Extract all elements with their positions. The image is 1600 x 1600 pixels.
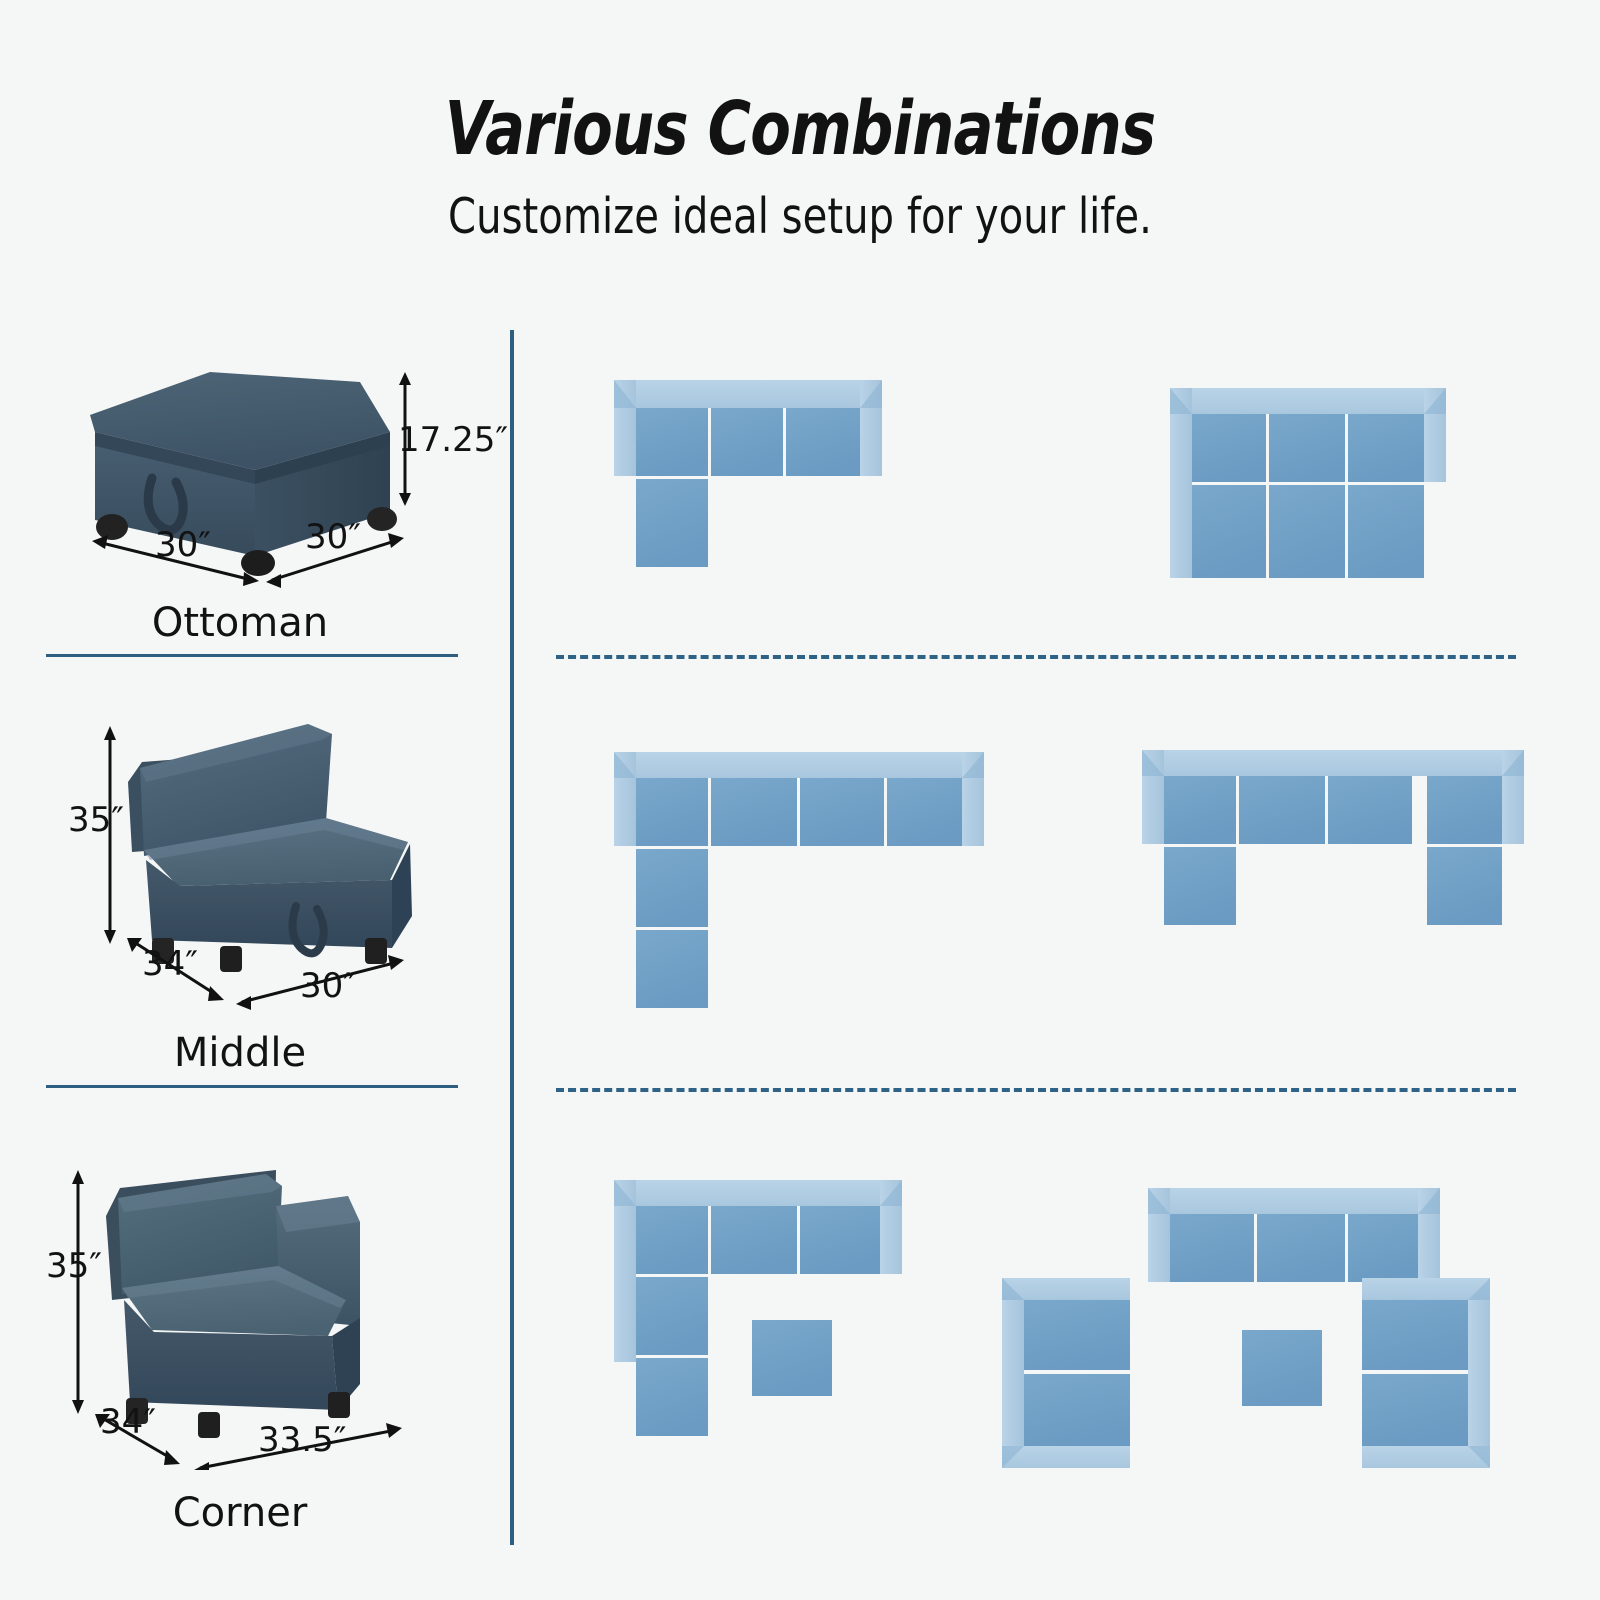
combination-diagram-5 [612, 1178, 932, 1458]
corner-label: Corner [20, 1490, 460, 1536]
combination-diagram-1 [612, 378, 922, 598]
middle-depth-label: 34″ [142, 944, 198, 984]
corner-height-label: 35″ [46, 1246, 102, 1286]
corner-width-label: 33.5″ [258, 1420, 346, 1460]
page-title: Various Combinations [160, 86, 1440, 172]
combination-diagram-2 [1168, 386, 1468, 586]
ottoman-label: Ottoman [20, 600, 460, 646]
ottoman-depth-label: 30″ [305, 517, 361, 557]
dashed-divider-2 [556, 1088, 1516, 1092]
middle-dimension-lines [60, 690, 480, 1020]
combination-diagram-6 [990, 1178, 1530, 1468]
left-divider-ottoman [46, 654, 458, 657]
corner-depth-label: 34″ [100, 1402, 156, 1442]
combination-diagram-3 [612, 750, 1012, 1010]
middle-height-label: 35″ [68, 800, 124, 840]
combination-diagram-4 [1140, 748, 1530, 938]
middle-label: Middle [20, 1030, 460, 1076]
left-divider-middle [46, 1085, 458, 1088]
ottoman-dimension-lines [60, 360, 480, 590]
ottoman-width-label: 30″ [155, 525, 211, 565]
vertical-divider [510, 330, 514, 1545]
infographic-canvas: Various Combinations Customize ideal set… [0, 0, 1600, 1600]
ottoman-height-label: 17.25″ [398, 420, 508, 460]
middle-width-label: 30″ [300, 966, 356, 1006]
dashed-divider-1 [556, 655, 1516, 659]
page-subtitle: Customize ideal setup for your life. [144, 188, 1456, 245]
